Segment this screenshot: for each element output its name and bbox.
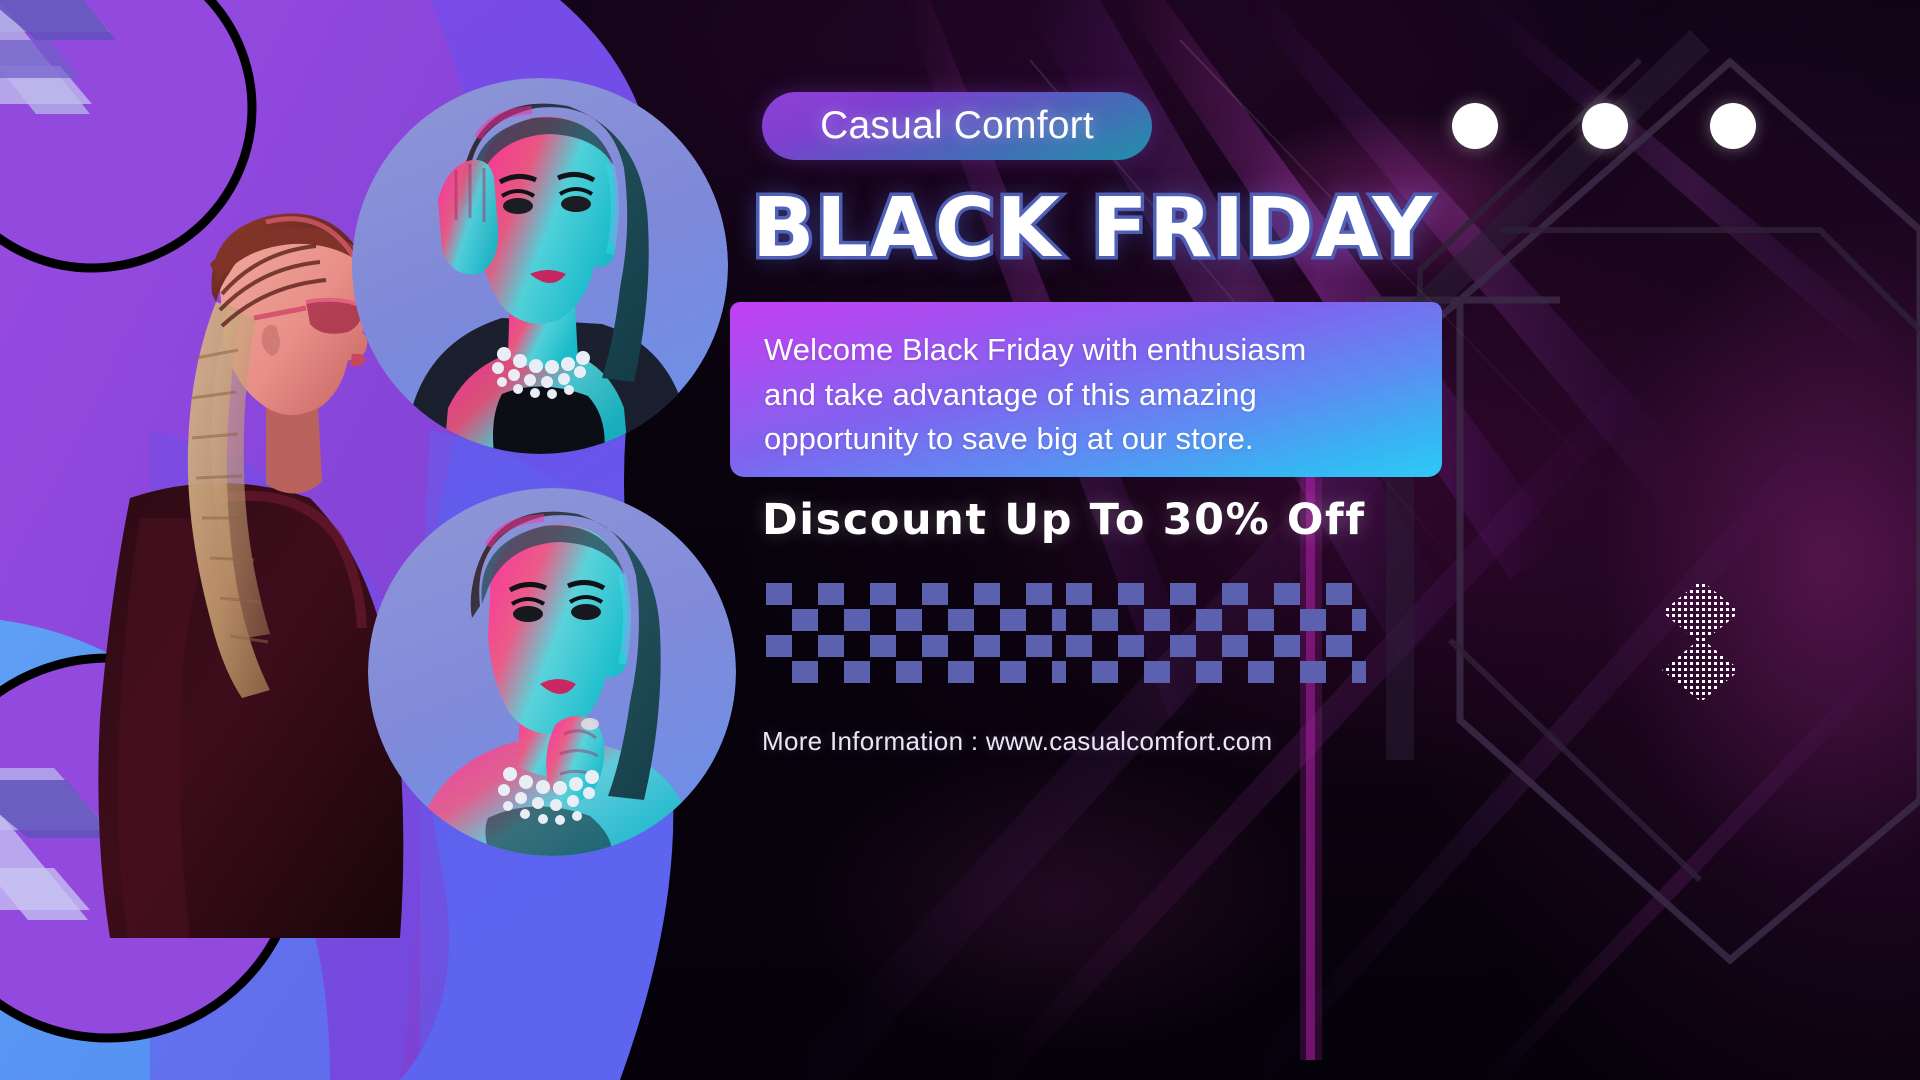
discount-text: Discount Up To 30% Off xyxy=(762,495,1462,545)
description-line-1: Welcome Black Friday with enthusiasm xyxy=(764,328,1442,373)
more-info-text[interactable]: More Information : www.casualcomfort.com xyxy=(762,726,1273,757)
page-title: BLACK FRIDAY xyxy=(752,182,1452,274)
decor-dot-1 xyxy=(1452,103,1498,149)
dotted-diamond-motif xyxy=(1660,578,1738,700)
checker-pattern-left xyxy=(766,583,1066,693)
brand-badge[interactable]: Casual Comfort xyxy=(762,92,1152,160)
description-line-2: and take advantage of this amazing xyxy=(764,373,1442,418)
headline-text: BLACK FRIDAY xyxy=(752,181,1433,276)
decor-dot-3 xyxy=(1710,103,1756,149)
description-panel: Welcome Black Friday with enthusiasm and… xyxy=(730,302,1442,477)
portrait-circle-bottom xyxy=(368,488,736,856)
brand-badge-label: Casual Comfort xyxy=(820,104,1094,148)
description-line-3: opportunity to save big at our store. xyxy=(764,417,1442,462)
portrait-circle-top xyxy=(352,78,728,454)
promo-banner: Casual Comfort BLACK FRIDAY Welcome Blac… xyxy=(0,0,1920,1080)
decor-dot-2 xyxy=(1582,103,1628,149)
checker-pattern-right xyxy=(1066,583,1366,693)
